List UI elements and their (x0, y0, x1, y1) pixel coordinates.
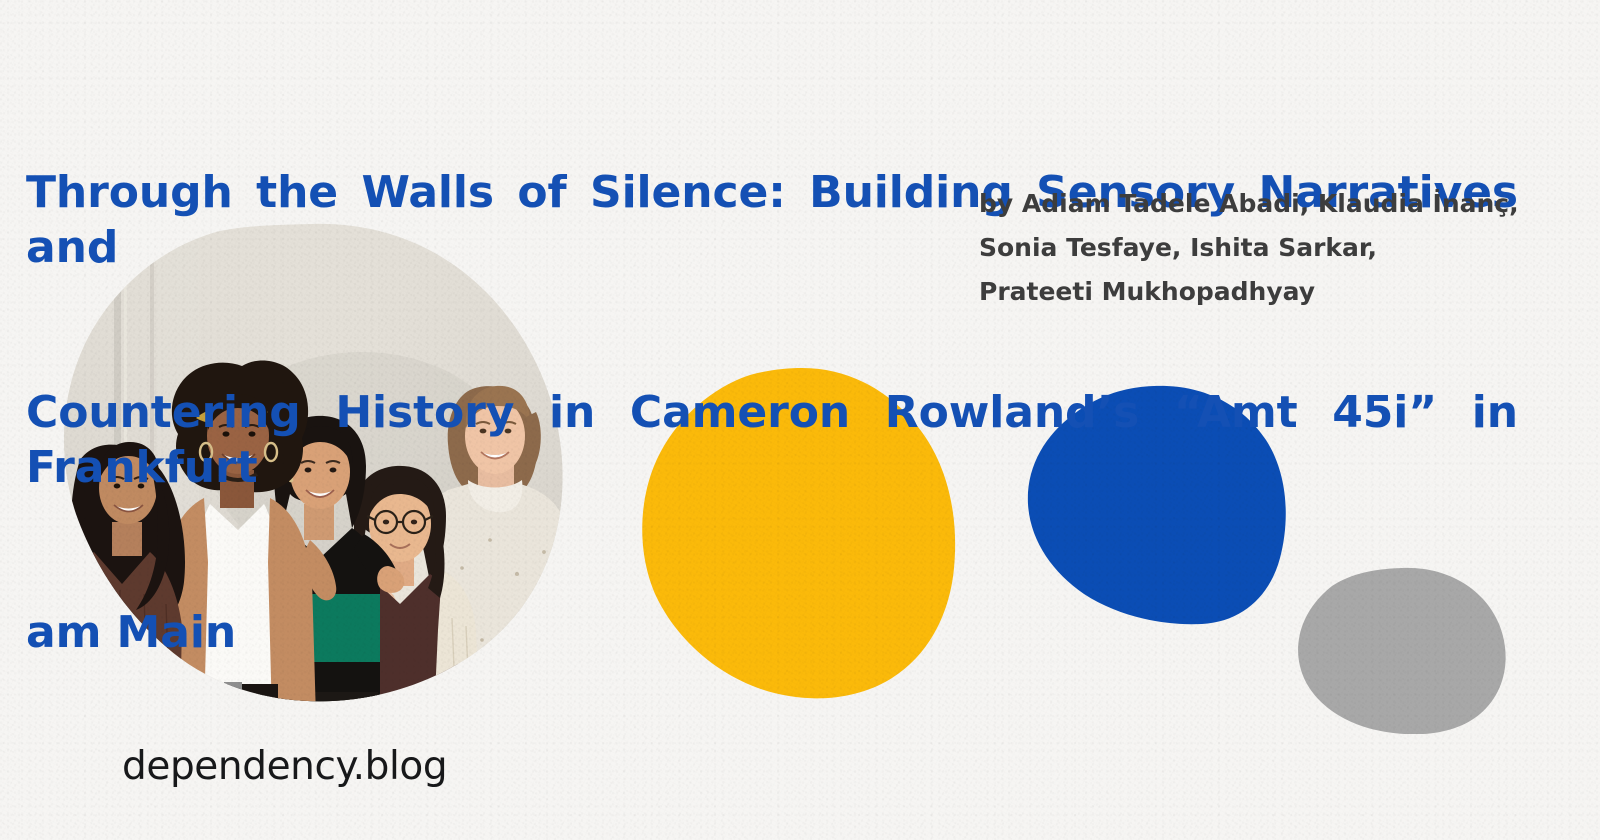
byline-line-3: Prateeti Mukhopadhyay (979, 270, 1539, 314)
title-line-3: am Main (26, 605, 1518, 660)
cover-card: Through the Walls of Silence: Building S… (0, 0, 1600, 840)
site-wordmark: dependency.blog (122, 744, 447, 789)
page-title: Through the Walls of Silence: Building S… (26, 55, 1518, 770)
byline-line-1: by Adiam Tadele Abadi, Klaudia İnanç, (979, 182, 1539, 226)
byline-line-2: Sonia Tesfaye, Ishita Sarkar, (979, 226, 1539, 270)
title-line-2: Countering History in Cameron Rowland’s … (26, 385, 1518, 495)
author-byline: by Adiam Tadele Abadi, Klaudia İnanç, So… (979, 182, 1539, 314)
